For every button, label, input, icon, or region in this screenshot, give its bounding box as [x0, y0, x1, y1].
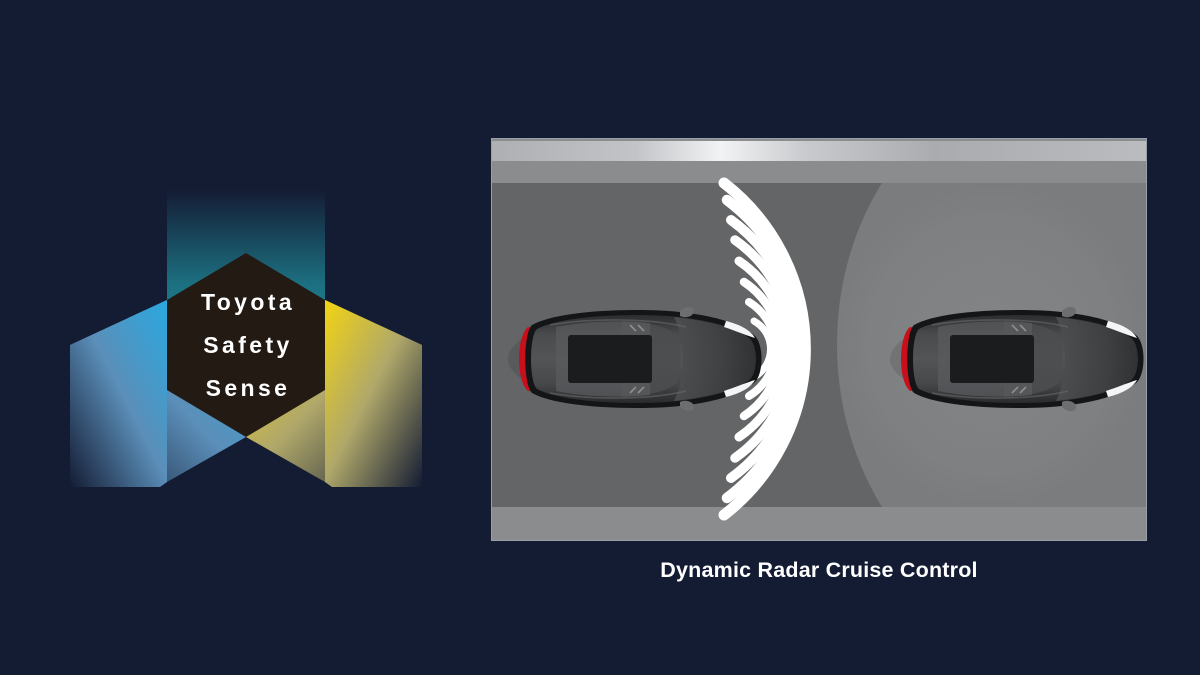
radar-cruise-scene: [492, 139, 1146, 540]
beam-left-blue-tail-icon: [70, 300, 167, 487]
upper-shoulder-band: [492, 161, 1146, 183]
following-vehicle: [890, 307, 1144, 411]
logo-line-3: Sense: [206, 375, 291, 401]
sky-gradient-band: [492, 141, 1146, 161]
logo-svg: Toyota Safety Sense: [60, 165, 440, 505]
illustration-panel: [492, 139, 1146, 540]
logo-line-1: Toyota: [201, 289, 295, 315]
logo-line-2: Safety: [203, 332, 292, 358]
feature-caption: Dynamic Radar Cruise Control: [492, 558, 1146, 583]
lower-shoulder-band: [492, 507, 1146, 538]
toyota-safety-sense-logo: Toyota Safety Sense: [60, 165, 440, 505]
screenshot-stage: Toyota Safety Sense: [0, 0, 1200, 675]
lead-vehicle-roof: [568, 335, 652, 383]
following-vehicle-roof: [950, 335, 1034, 383]
beam-right-yellow-tail-icon: [325, 300, 422, 487]
lead-vehicle: [508, 307, 762, 411]
